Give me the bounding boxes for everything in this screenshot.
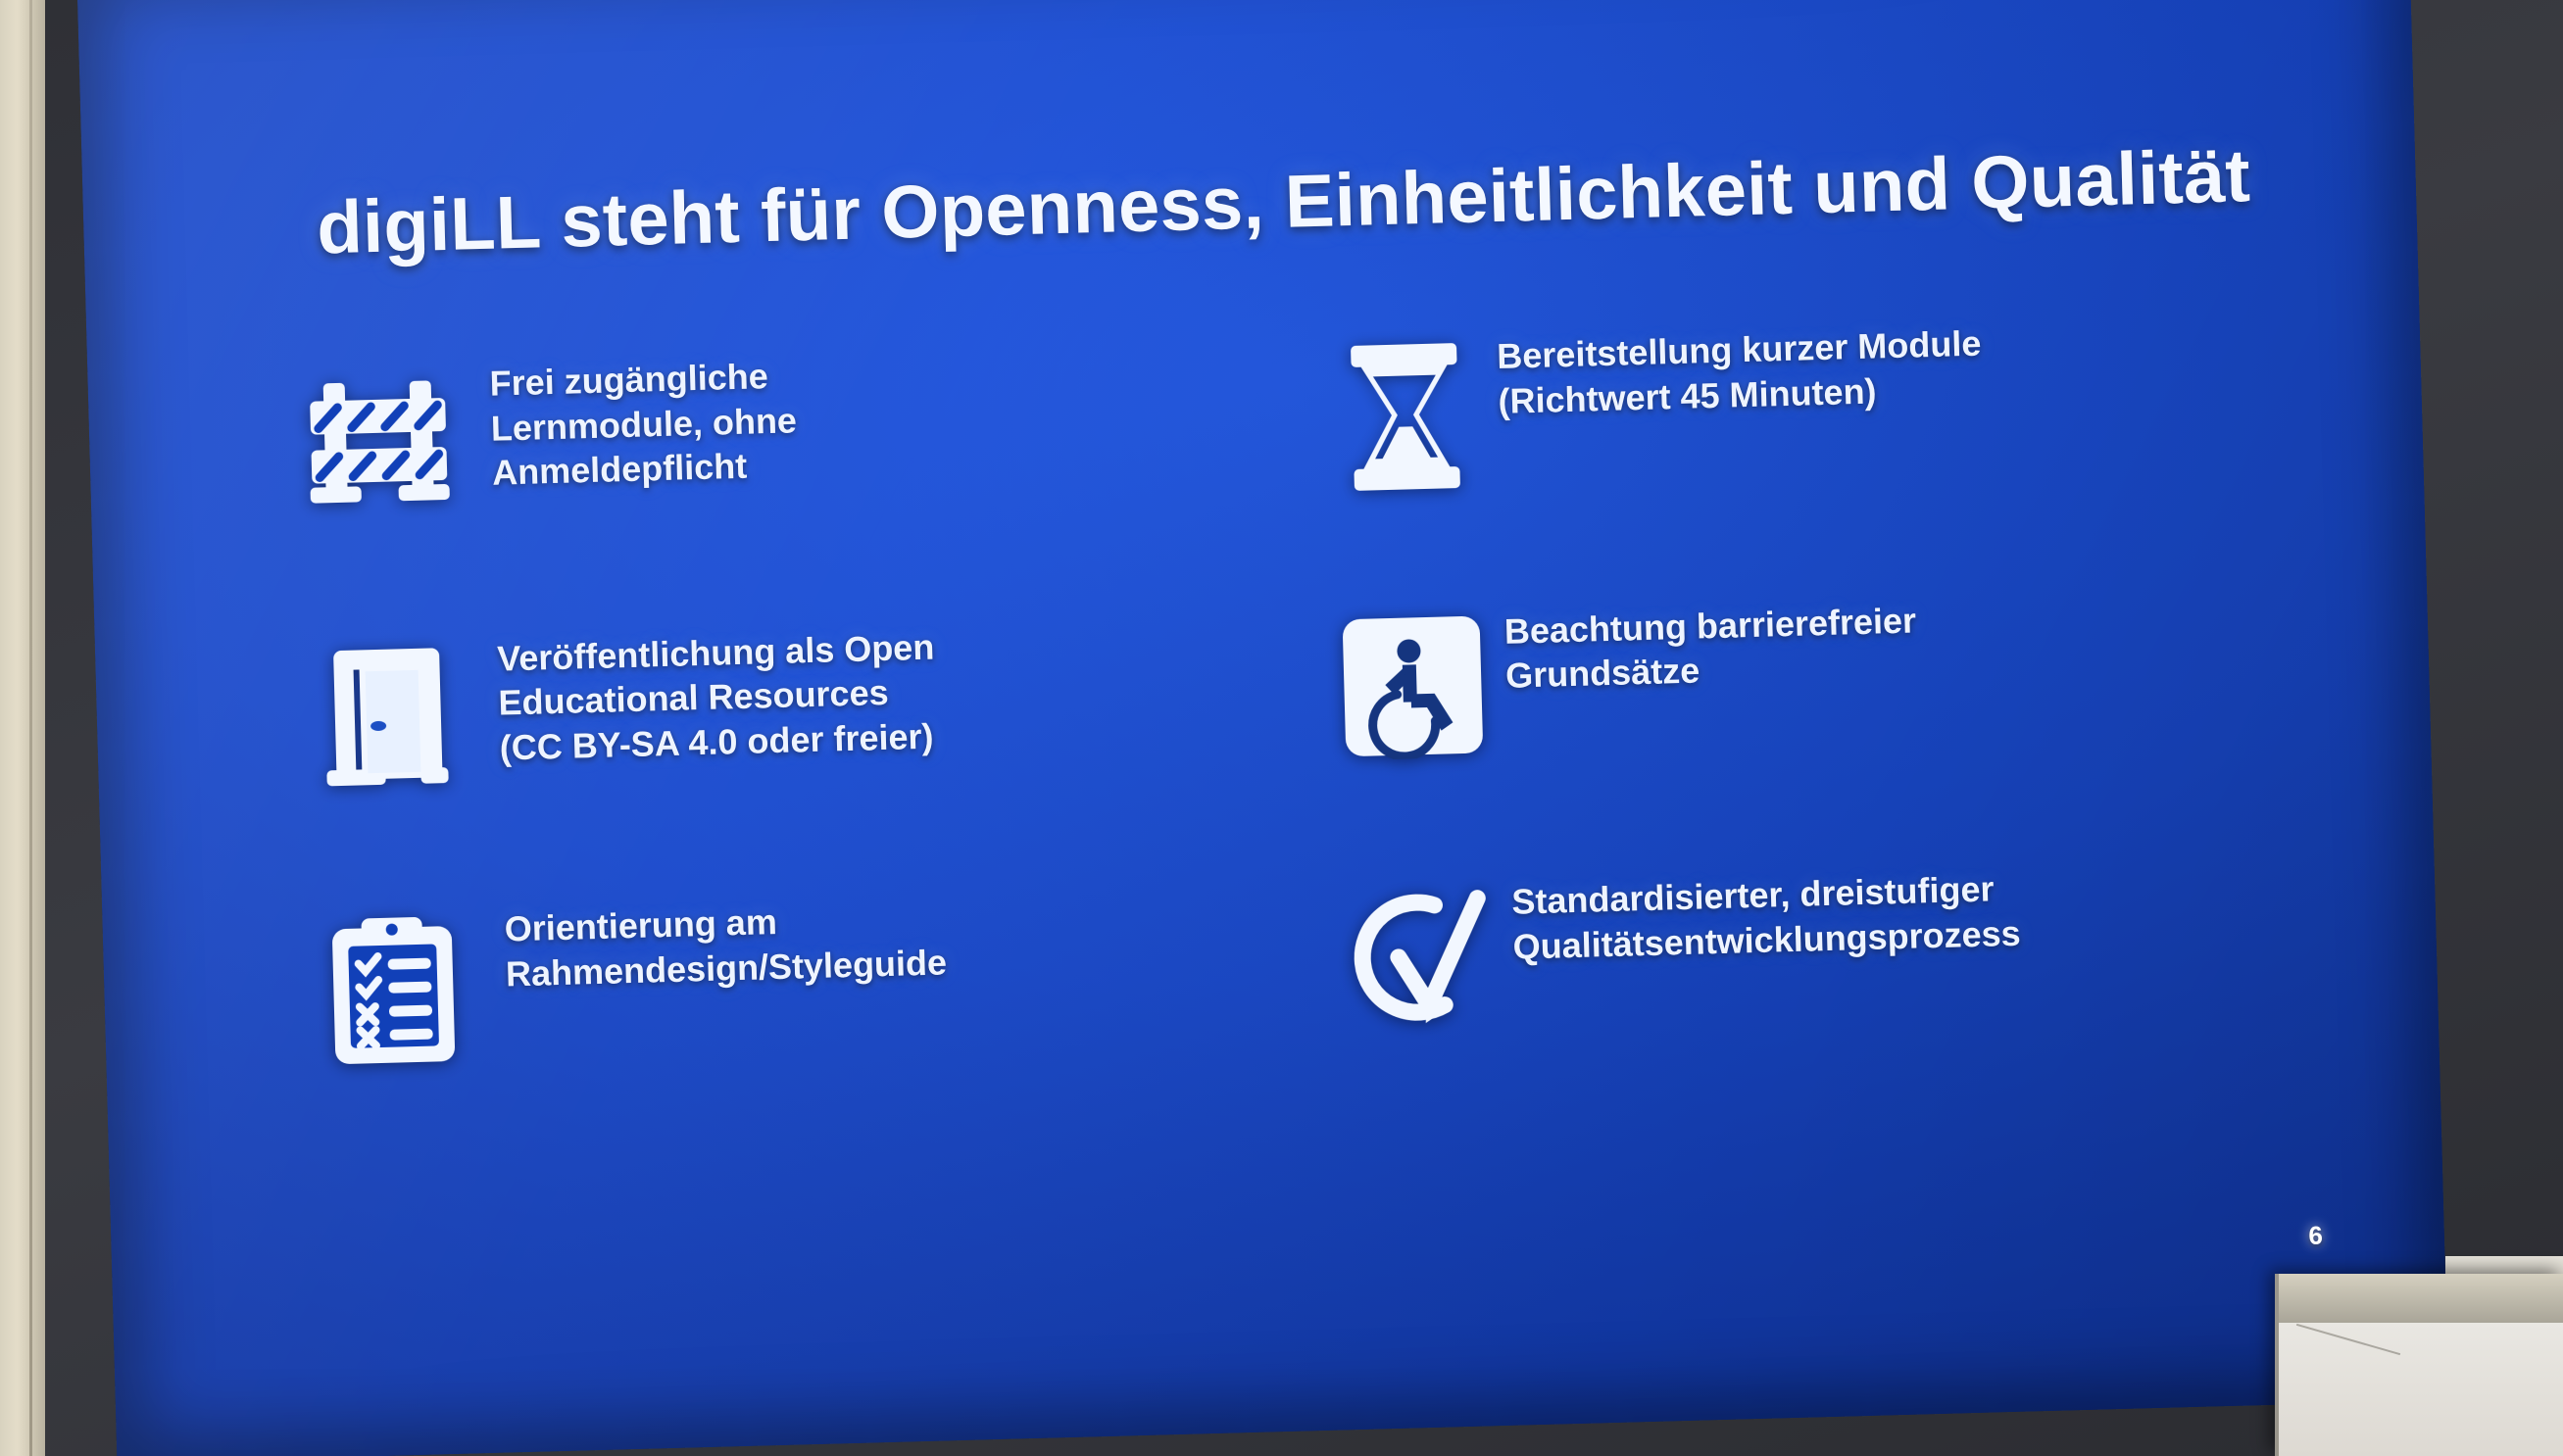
- feature-item-accessibility: Beachtung barrierefreier Grundsätze: [1300, 582, 2365, 882]
- feature-label: Veröffentlichung als Open Educational Re…: [497, 620, 938, 770]
- feature-line: Anmeldepflicht: [492, 443, 799, 496]
- feature-item-short-modules: Bereitstellung kurzer Module (Richtwert …: [1293, 311, 2358, 610]
- check-cycle-icon: [1307, 876, 1515, 1035]
- slide-page-number: 6: [2308, 1220, 2323, 1250]
- flipchart: [2275, 1274, 2563, 1456]
- feature-item-styleguide: Orientierung am Rahmendesign/Styleguide: [298, 882, 1314, 1180]
- photo-scene: digiLL steht für Openness, Einheitlichke…: [0, 0, 2563, 1456]
- flipchart-rail: [2279, 1274, 2563, 1323]
- feature-label: Bereitstellung kurzer Module (Richtwert …: [1497, 321, 1983, 424]
- paper-crease: [2296, 1324, 2400, 1355]
- feature-grid: Frei zugängliche Lernmodule, ohne Anmeld…: [283, 311, 2373, 1180]
- feature-item-open-access: Frei zugängliche Lernmodule, ohne Anmeld…: [283, 340, 1300, 638]
- barrier-icon: [283, 362, 473, 510]
- wheelchair-accessibility-icon: [1300, 606, 1507, 762]
- left-wall: [0, 0, 45, 1456]
- wall-seam: [29, 0, 32, 1456]
- feature-label: Frei zugängliche Lernmodule, ohne Anmeld…: [489, 353, 799, 496]
- slide-title: digiLL steht für Openness, Einheitlichke…: [316, 132, 2278, 270]
- feature-line: Frei zugängliche: [489, 353, 796, 406]
- feature-label: Orientierung am Rahmendesign/Styleguide: [504, 892, 948, 997]
- projected-slide: digiLL steht für Openness, Einheitlichke…: [76, 0, 2449, 1456]
- feature-line: Lernmodule, ohne: [490, 398, 797, 451]
- feature-item-oer-licence: Veröffentlichung als Open Educational Re…: [291, 610, 1307, 908]
- clipboard-checklist-icon: [298, 903, 488, 1069]
- slide-content: digiLL steht für Openness, Einheitlichke…: [77, 0, 2447, 1420]
- feature-label: Beachtung barrierefreier Grundsätze: [1503, 594, 1918, 699]
- feature-item-quality-process: Standardisierter, dreistufiger Qualitäts…: [1307, 852, 2373, 1152]
- hourglass-icon: [1293, 334, 1501, 495]
- open-door-icon: [291, 633, 481, 789]
- feature-label: Standardisierter, dreistufiger Qualitäts…: [1511, 862, 2022, 969]
